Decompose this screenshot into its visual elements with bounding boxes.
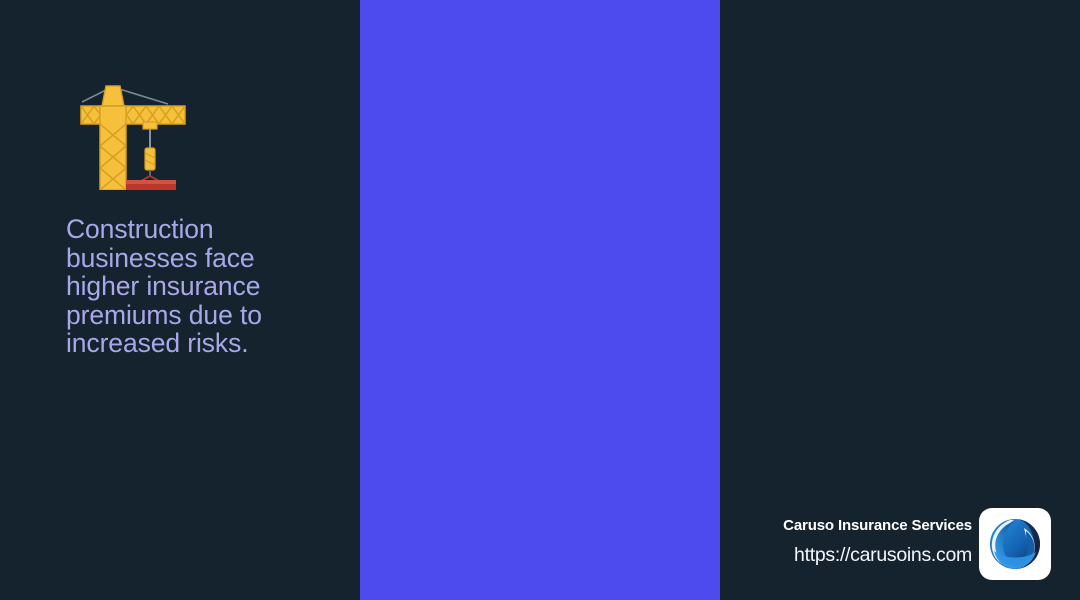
panel-right: Businesses in high-litigation areas ofte… (720, 0, 1080, 600)
construction-crane-icon (62, 62, 192, 192)
brand-text-block: Caruso Insurance Services https://caruso… (760, 505, 972, 568)
panel-left: Construction businesses face higher insu… (0, 0, 360, 600)
branding-footer: Caruso Insurance Services https://caruso… (760, 505, 1060, 589)
company-name: Caruso Insurance Services (760, 516, 972, 536)
panel-left-text: Construction businesses face higher insu… (66, 215, 346, 358)
caruso-globe-logo (979, 508, 1051, 580)
website-url[interactable]: https://carusoins.com (760, 542, 972, 568)
infographic-canvas: Construction businesses face higher insu… (0, 0, 1080, 600)
panel-center: Small businesses typically pay between $… (360, 0, 720, 600)
